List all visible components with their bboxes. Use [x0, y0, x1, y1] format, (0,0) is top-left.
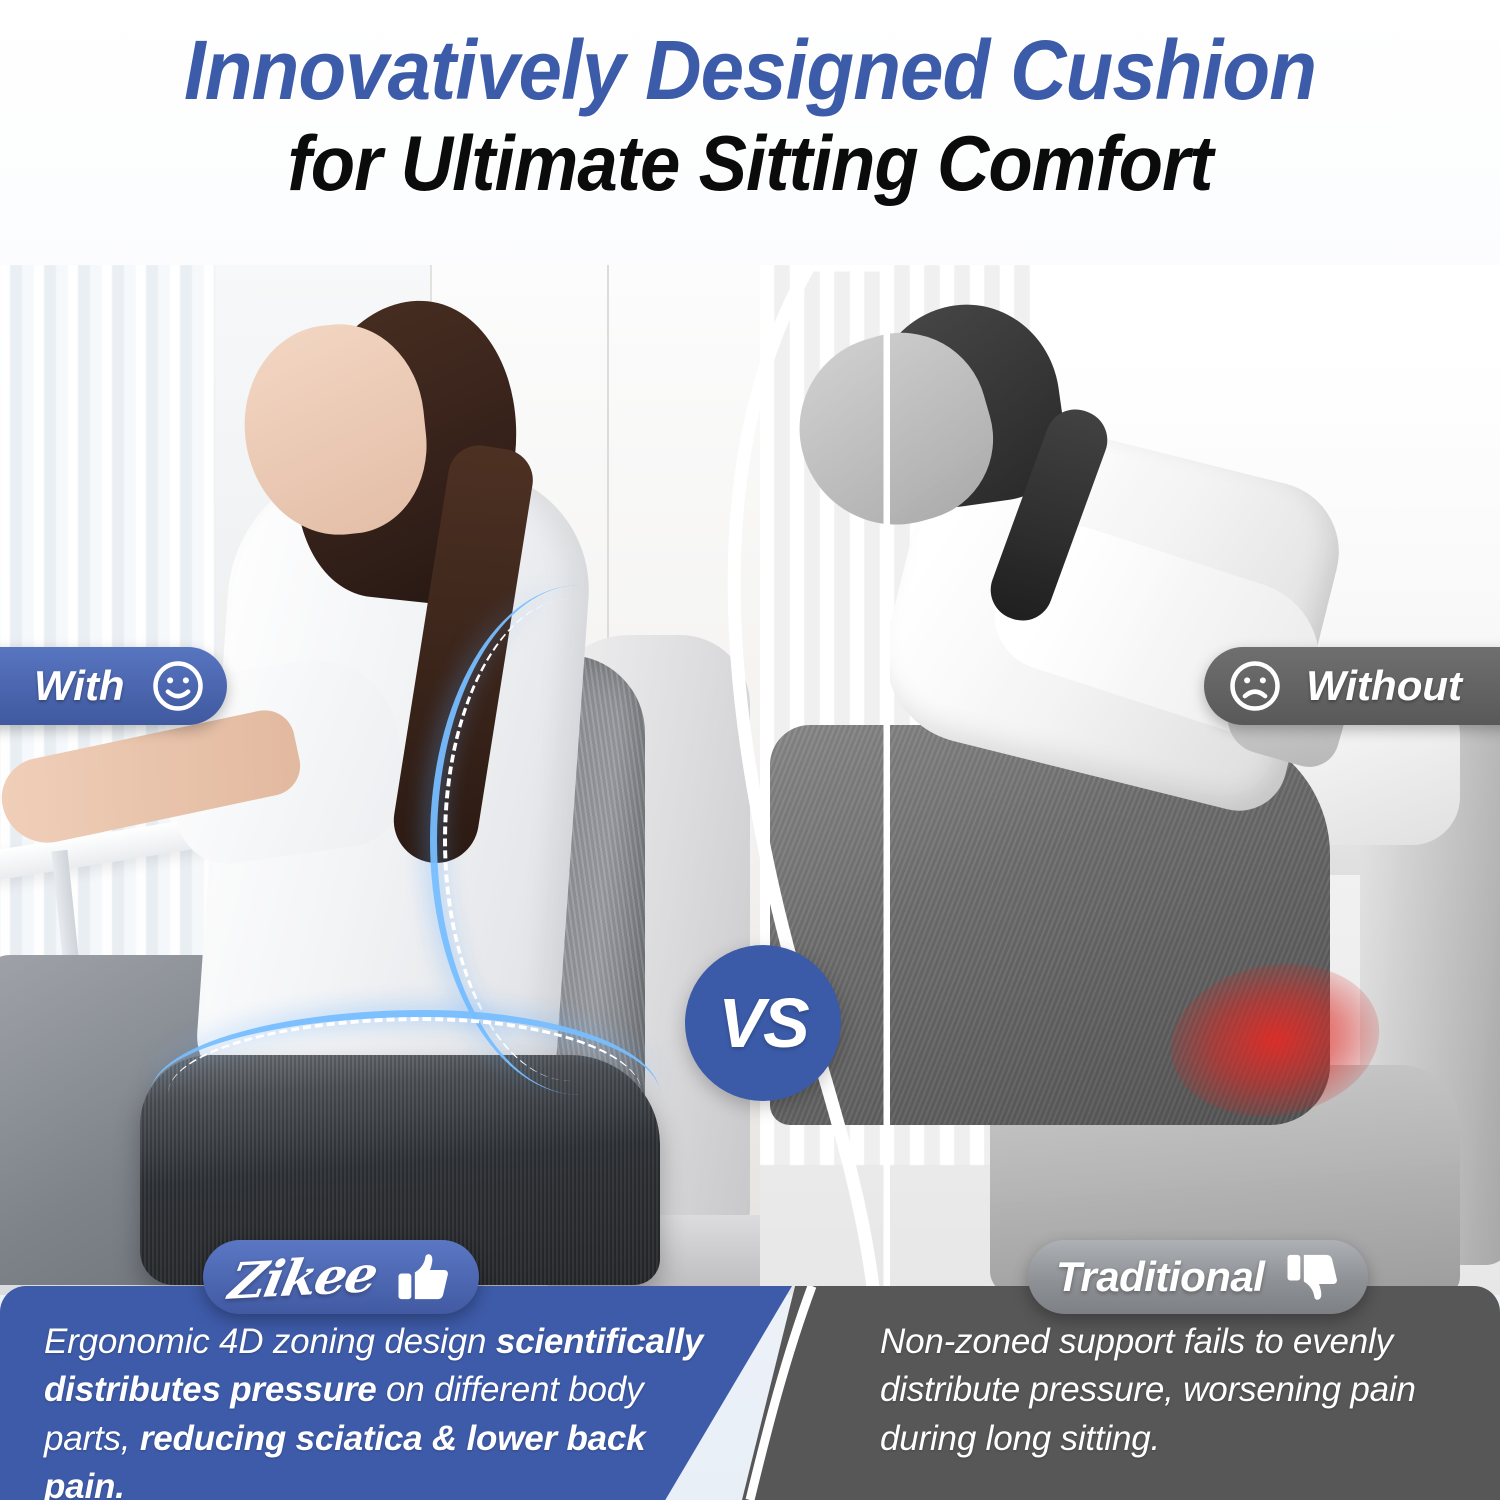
headline-line-2: for Ultimate Sitting Comfort — [53, 120, 1448, 207]
without-badge-label: Without — [1306, 662, 1462, 710]
headline-line-1: Innovatively Designed Cushion — [53, 26, 1448, 114]
smiley-face-icon — [151, 659, 205, 713]
without-caption-text: Non-zoned support fails to evenly distri… — [880, 1318, 1460, 1463]
window-curtain — [0, 265, 215, 1025]
comparison-photo-band: With Without VS — [0, 265, 1500, 1295]
page-title: Innovatively Designed Cushion for Ultima… — [0, 26, 1500, 208]
with-badge-label: With — [34, 662, 125, 710]
caption-zone: Ergonomic 4D zoning design scientificall… — [0, 1286, 1500, 1500]
brand-badge[interactable]: Zikee — [203, 1240, 479, 1314]
with-caption-text: Ergonomic 4D zoning design scientificall… — [44, 1318, 724, 1500]
without-badge[interactable]: Without — [1204, 647, 1500, 725]
vs-label: VS — [718, 983, 807, 1063]
with-cushion-photo — [0, 265, 790, 1295]
vs-badge: VS — [685, 945, 841, 1101]
sad-face-icon — [1228, 659, 1282, 713]
traditional-label: Traditional — [1056, 1253, 1264, 1301]
with-badge[interactable]: With — [0, 647, 227, 725]
thumbs-down-icon — [1284, 1249, 1340, 1305]
brand-name-label: Zikee — [224, 1244, 381, 1310]
product-comparison-graphic: Innovatively Designed Cushion for Ultima… — [0, 0, 1500, 1500]
traditional-badge[interactable]: Traditional — [1028, 1240, 1368, 1314]
without-cushion-photo — [760, 265, 1500, 1295]
thumbs-up-icon — [395, 1249, 451, 1305]
